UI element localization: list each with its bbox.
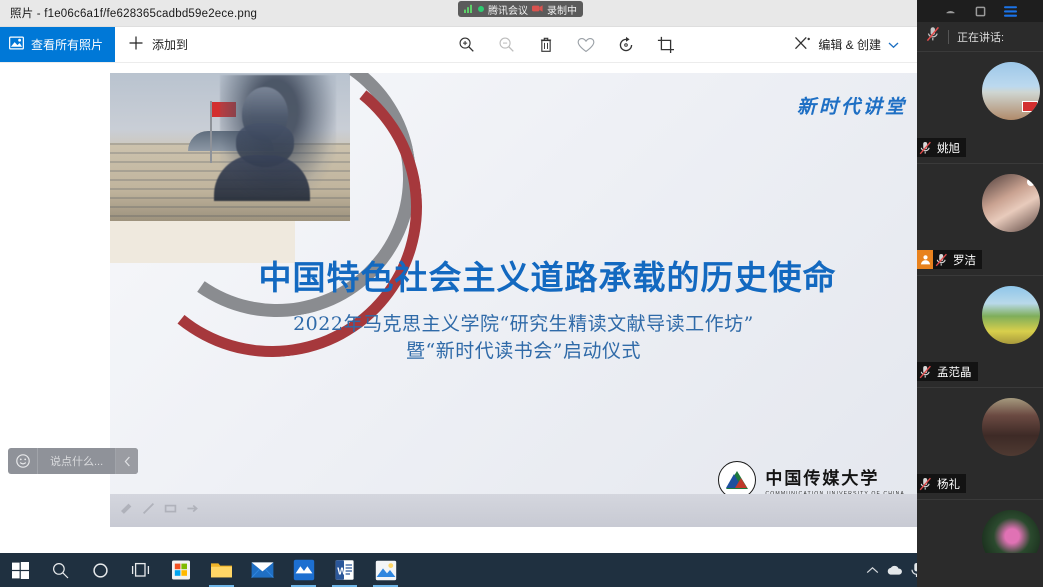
chevron-down-icon[interactable] — [888, 38, 899, 52]
participant-nametag: 罗洁 — [917, 250, 982, 269]
emoji-icon[interactable] — [8, 448, 38, 474]
mic-off-icon — [917, 365, 934, 379]
add-to-button[interactable]: 添加到 — [115, 27, 201, 62]
maximize-icon[interactable] — [972, 3, 988, 19]
slide-subtitle: 2022年马克思主义学院“研究生精读文献导读工作坊” 暨“新时代读书会”启动仪式 — [110, 311, 917, 365]
chevron-left-icon[interactable] — [116, 448, 138, 474]
slide-annotation-bar — [110, 494, 917, 527]
task-view-button[interactable] — [120, 553, 160, 587]
show-hidden-icons[interactable] — [861, 553, 883, 587]
view-all-photos-button[interactable]: 查看所有照片 — [0, 27, 115, 62]
participant-name: 罗洁 — [953, 252, 976, 268]
participant-name: 杨礼 — [937, 476, 960, 492]
cortana-button[interactable] — [80, 553, 120, 587]
shape-icon — [164, 502, 177, 520]
university-name-cn: 中国传媒大学 — [765, 464, 905, 489]
participant-tile[interactable]: 姚旭 — [917, 52, 1043, 164]
comment-bar[interactable]: 说点什么... — [8, 448, 138, 474]
comment-input[interactable]: 说点什么... — [38, 448, 116, 474]
photo-icon — [9, 36, 24, 53]
tm-panel-taskbar-overlay — [917, 553, 1043, 587]
windows-taskbar: W — [0, 553, 1043, 587]
start-button[interactable] — [0, 553, 40, 587]
participant-nametag: 杨礼 — [917, 474, 966, 493]
zoom-out-icon[interactable] — [486, 27, 526, 63]
line-icon — [142, 502, 155, 520]
now-speaking-header: 正在讲话: — [917, 22, 1043, 52]
screen: 照片 - f1e06c6a1f/fe628365cadbd59e2ece.png… — [0, 0, 1043, 587]
edit-create-button[interactable]: 编辑 & 创建 — [784, 27, 909, 63]
view-all-photos-label: 查看所有照片 — [31, 36, 103, 53]
edit-create-icon — [794, 36, 811, 54]
tm-window-controls — [917, 0, 1043, 22]
university-logo-text: 中国传媒大学 COMMUNICATION UNIVERSITY OF CHINA — [765, 464, 905, 497]
zoom-in-icon[interactable] — [446, 27, 486, 63]
host-badge-icon — [917, 250, 933, 269]
mic-off-icon — [933, 253, 950, 267]
tencent-meeting-panel: 正在讲话: 姚旭 — [917, 0, 1043, 587]
flag-badge — [1022, 101, 1038, 112]
edit-create-label: 编辑 & 创建 — [818, 36, 881, 53]
onedrive-icon[interactable] — [883, 553, 905, 587]
photos-app-window: 照片 - f1e06c6a1f/fe628365cadbd59e2ece.png… — [0, 0, 917, 553]
slide-subtitle-line-1: 2022年马克思主义学院“研究生精读文献导读工作坊” — [130, 311, 917, 338]
participant-tile[interactable]: 罗洁 — [917, 164, 1043, 276]
toolbar-right-group: 编辑 & 创建 — [784, 27, 917, 62]
crop-icon[interactable] — [646, 27, 686, 63]
avatar — [982, 286, 1040, 344]
minimize-icon[interactable] — [942, 3, 958, 19]
taskbar-app-photos[interactable] — [365, 553, 406, 587]
now-speaking-label: 正在讲话: — [957, 29, 1004, 45]
avatar — [982, 174, 1040, 232]
taskbar-app-word[interactable]: W — [324, 553, 365, 587]
status-dot — [478, 6, 484, 12]
meeting-record-status: 录制中 — [547, 2, 577, 17]
window-title: 照片 - f1e06c6a1f/fe628365cadbd59e2ece.png — [10, 5, 257, 21]
pen-icon — [120, 502, 133, 520]
seal-triangle-green — [726, 471, 748, 489]
slide-main-title: 中国特色社会主义道路承载的历史使命 — [110, 251, 917, 299]
mic-off-icon — [926, 26, 940, 47]
heart-badge — [1027, 178, 1035, 186]
taskbar-app-mail[interactable] — [242, 553, 283, 587]
participant-tile[interactable]: 杨礼 — [917, 388, 1043, 500]
add-to-label: 添加到 — [152, 36, 188, 53]
participant-name: 姚旭 — [937, 140, 960, 156]
photo-actions-group — [446, 27, 686, 62]
participant-nametag: 姚旭 — [917, 138, 966, 157]
slide-brand-label: 新时代讲堂 — [797, 92, 907, 119]
taskbar-app-explorer[interactable] — [201, 553, 242, 587]
participant-list-icon[interactable] — [1002, 3, 1018, 19]
delete-icon[interactable] — [526, 27, 566, 63]
participant-nametag: 孟范晶 — [917, 362, 978, 381]
avatar — [982, 398, 1040, 456]
search-button[interactable] — [40, 553, 80, 587]
slide-subtitle-line-2: 暨“新时代读书会”启动仪式 — [130, 338, 917, 365]
taskbar-app-store[interactable] — [160, 553, 201, 587]
arrow-icon — [186, 502, 199, 520]
participant-name: 孟范晶 — [937, 364, 972, 380]
meeting-app-name: 腾讯会议 — [488, 2, 528, 17]
presentation-slide-image: 新时代讲堂 中国特色社会主义道路承载的历史使命 2022年马克思主义学院“研究生… — [110, 73, 917, 527]
plus-icon — [128, 35, 144, 54]
divider — [948, 30, 949, 44]
seal-triangle-red — [735, 478, 747, 488]
mic-off-icon — [917, 477, 934, 491]
mic-off-icon — [917, 141, 934, 155]
taskbar-app-meeting[interactable] — [283, 553, 324, 587]
signal-bars-icon — [464, 0, 474, 18]
participant-tile[interactable]: 孟范晶 — [917, 276, 1043, 388]
photo-viewer-stage[interactable]: 新时代讲堂 中国特色社会主义道路承载的历史使命 2022年马克思主义学院“研究生… — [0, 64, 917, 553]
meeting-recording-badge[interactable]: 腾讯会议 录制中 — [458, 1, 583, 17]
record-icon — [532, 0, 543, 18]
rotate-icon[interactable] — [606, 27, 646, 63]
avatar — [982, 62, 1040, 120]
favorite-heart-icon[interactable] — [566, 27, 606, 63]
photos-toolbar: 查看所有照片 添加到 — [0, 27, 917, 63]
